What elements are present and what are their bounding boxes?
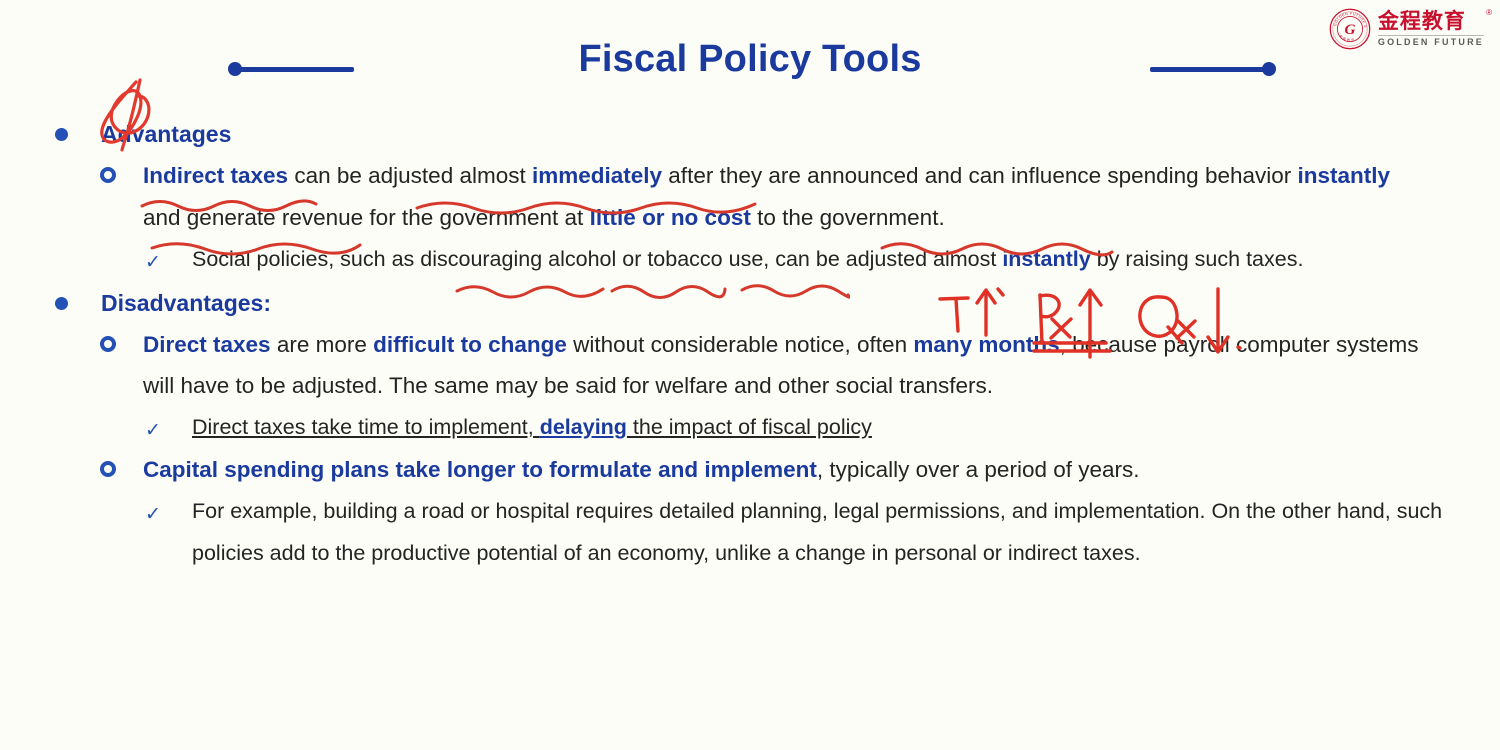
svg-text:G: G bbox=[1344, 22, 1355, 38]
run-instantly-2: instantly bbox=[1002, 247, 1090, 271]
check-bullet-icon: ✓ bbox=[145, 253, 161, 269]
run-immediately: immediately bbox=[532, 163, 662, 188]
run-d1-p2: are more bbox=[271, 332, 374, 357]
slide-header: Fiscal Policy Tools GOLDEN FUTURE EDUCAT… bbox=[0, 0, 1500, 110]
run-d1-p4: without considerable notice, often bbox=[567, 332, 913, 357]
list-item-text: For example, building a road or hospital… bbox=[192, 491, 1482, 575]
run-d2-p1: Direct taxes take time to implement, bbox=[192, 415, 540, 439]
run-capital-spending-plans: Capital spending plans take longer to fo… bbox=[143, 457, 817, 482]
run-d4-p1: For example, building a road or hospital… bbox=[192, 499, 1442, 565]
disc-bullet-icon bbox=[55, 297, 68, 310]
decoration-bar-right bbox=[1150, 67, 1270, 72]
run-instantly: instantly bbox=[1298, 163, 1391, 188]
list-item-road-hospital-example: ✓ For example, building a road or hospit… bbox=[145, 491, 1500, 575]
decoration-dot-right bbox=[1262, 62, 1276, 76]
logo-wordmark: 金程教育 ® GOLDEN FUTURE bbox=[1378, 11, 1484, 47]
list-item-capital-spending: Capital spending plans take longer to fo… bbox=[100, 449, 1500, 491]
list-item-text: Indirect taxes can be adjusted almost im… bbox=[143, 155, 1433, 238]
logo-chinese-text: 金程教育 bbox=[1378, 10, 1466, 33]
run-a2-p1: Social policies, such as discouraging al… bbox=[192, 247, 1002, 271]
registered-trademark-icon: ® bbox=[1486, 9, 1493, 17]
brand-logo: GOLDEN FUTURE EDUCATION 金 程 教 育 G 金程教育 ®… bbox=[1329, 8, 1484, 50]
section-heading-advantages: Advantages bbox=[55, 118, 1500, 151]
ring-bullet-icon bbox=[100, 336, 116, 352]
run-a1-p6: and generate revenue for the government … bbox=[143, 205, 590, 230]
title-decoration-right bbox=[1150, 62, 1276, 76]
logo-chinese-name: 金程教育 ® bbox=[1378, 11, 1484, 32]
heading-advantages-label: Advantages bbox=[101, 118, 231, 151]
run-little-or-no-cost: little or no cost bbox=[590, 205, 751, 230]
list-item-text: Capital spending plans take longer to fo… bbox=[143, 449, 1140, 491]
run-d2-p3: the impact of fiscal policy bbox=[627, 415, 872, 439]
run-d3-p2: , typically over a period of years. bbox=[817, 457, 1140, 482]
run-delaying: delaying bbox=[540, 415, 627, 439]
ring-bullet-icon bbox=[100, 461, 116, 477]
ring-bullet-icon bbox=[100, 167, 116, 183]
disc-bullet-icon bbox=[55, 128, 68, 141]
slide-body: Advantages Indirect taxes can be adjuste… bbox=[0, 118, 1500, 575]
check-bullet-icon: ✓ bbox=[145, 505, 161, 521]
list-item-text: Direct taxes take time to implement, del… bbox=[192, 407, 872, 449]
run-a1-p8: to the government. bbox=[751, 205, 945, 230]
run-a1-p2: can be adjusted almost bbox=[288, 163, 532, 188]
run-many-months: many months bbox=[913, 332, 1059, 357]
list-item-text: Social policies, such as discouraging al… bbox=[192, 239, 1303, 281]
run-direct-taxes: Direct taxes bbox=[143, 332, 271, 357]
run-a2-p3: by raising such taxes. bbox=[1091, 247, 1304, 271]
heading-disadvantages-label: Disadvantages: bbox=[101, 287, 271, 320]
seal-icon: GOLDEN FUTURE EDUCATION 金 程 教 育 G bbox=[1329, 8, 1371, 50]
list-item-text: Direct taxes are more difficult to chang… bbox=[143, 324, 1433, 407]
section-heading-disadvantages: Disadvantages: bbox=[55, 287, 1500, 320]
slide-canvas: Fiscal Policy Tools GOLDEN FUTURE EDUCAT… bbox=[0, 0, 1500, 750]
logo-english-name: GOLDEN FUTURE bbox=[1378, 35, 1484, 47]
list-item-delaying-impact: ✓ Direct taxes take time to implement, d… bbox=[145, 407, 1500, 449]
list-item-social-policies: ✓ Social policies, such as discouraging … bbox=[145, 239, 1500, 281]
list-item-direct-taxes: Direct taxes are more difficult to chang… bbox=[100, 324, 1500, 407]
list-item-indirect-taxes: Indirect taxes can be adjusted almost im… bbox=[100, 155, 1500, 238]
check-bullet-icon: ✓ bbox=[145, 421, 161, 437]
run-a1-p4: after they are announced and can influen… bbox=[662, 163, 1297, 188]
run-difficult-to-change: difficult to change bbox=[373, 332, 567, 357]
run-indirect-taxes: Indirect taxes bbox=[143, 163, 288, 188]
